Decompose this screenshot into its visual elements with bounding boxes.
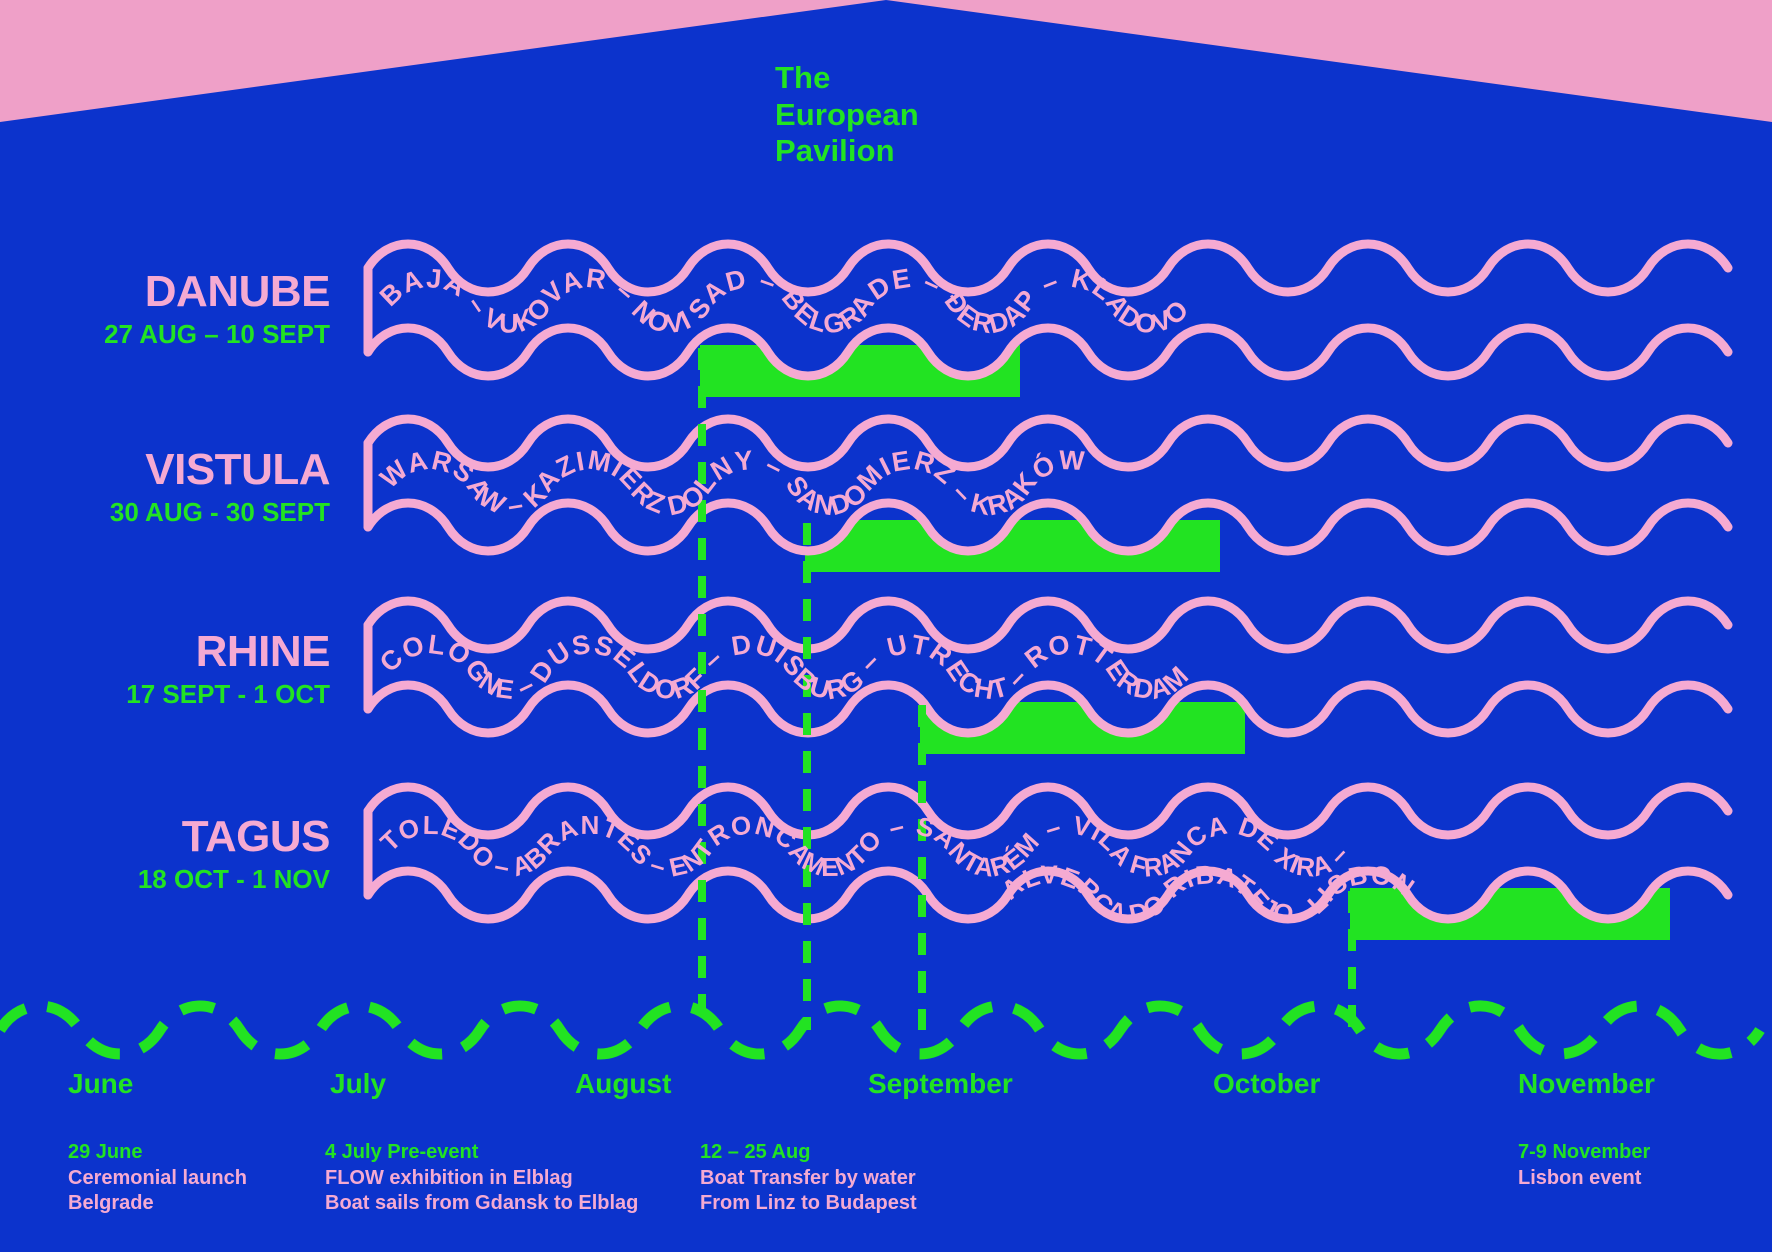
event-line2-august: From Linz to Budapest [700, 1191, 917, 1217]
river-label-danube: DANUBE 27 AUG – 10 SEPT [0, 270, 330, 347]
event-line1-november: Lisbon event [1518, 1166, 1650, 1192]
route-text-vistula: WARSAW – KAZIMIERZ DOLNY – SANDOMIERZ – … [374, 445, 1086, 522]
poster-canvas: BAJA – VUKOVAR – NOVI SAD – BELGRADE – Đ… [0, 0, 1772, 1252]
page-title: The European Pavilion [775, 60, 1075, 170]
river-dates-tagus: 18 OCT - 1 NOV [0, 866, 330, 892]
river-dates-danube: 27 AUG – 10 SEPT [0, 321, 330, 347]
river-dates-rhine: 17 SEPT - 1 OCT [0, 681, 330, 707]
event-line1-june: Ceremonial launch [68, 1166, 247, 1192]
event-note-august: 12 – 25 Aug Boat Transfer by water From … [700, 1140, 917, 1217]
river-label-rhine: RHINE 17 SEPT - 1 OCT [0, 630, 330, 707]
event-line2-july: Boat sails from Gdansk to Elblag [325, 1191, 638, 1217]
page-title-line2: European [775, 97, 1075, 134]
river-name-vistula: VISTULA [0, 448, 330, 492]
event-note-july: 4 July Pre-event FLOW exhibition in Elbl… [325, 1140, 638, 1217]
river-label-tagus: TAGUS 18 OCT - 1 NOV [0, 815, 330, 892]
event-line1-july: FLOW exhibition in Elblag [325, 1166, 638, 1192]
river-dates-vistula: 30 AUG - 30 SEPT [0, 499, 330, 525]
river-name-danube: DANUBE [0, 270, 330, 314]
route-text-tagus-line2: ALVERCA DO RIBATEJO - LISBON [996, 859, 1421, 930]
route-text-rhine: COLOGNE – DUSSELDORF – DUISBURG – UTRECH… [374, 629, 1195, 706]
event-date-june: 29 June [68, 1140, 247, 1166]
river-name-rhine: RHINE [0, 630, 330, 674]
route-text-danube: BAJA – VUKOVAR – NOVI SAD – BELGRADE – Đ… [374, 263, 1195, 340]
page-title-line3: Pavilion [775, 133, 1075, 170]
event-line1-august: Boat Transfer by water [700, 1166, 917, 1192]
event-note-june: 29 June Ceremonial launch Belgrade [68, 1140, 247, 1217]
route-labels: BAJA – VUKOVAR – NOVI SAD – BELGRADE – Đ… [0, 0, 1772, 1252]
month-label-october: October [1213, 1068, 1320, 1100]
month-label-november: November [1518, 1068, 1655, 1100]
month-label-august: August [575, 1068, 671, 1100]
river-label-vistula: VISTULA 30 AUG - 30 SEPT [0, 448, 330, 525]
event-line2-june: Belgrade [68, 1191, 247, 1217]
month-label-july: July [330, 1068, 386, 1100]
event-note-november: 7-9 November Lisbon event [1518, 1140, 1650, 1191]
event-date-november: 7-9 November [1518, 1140, 1650, 1166]
event-date-august: 12 – 25 Aug [700, 1140, 917, 1166]
month-label-september: September [868, 1068, 1013, 1100]
month-label-june: June [68, 1068, 133, 1100]
river-name-tagus: TAGUS [0, 815, 330, 859]
page-title-line1: The [775, 60, 1075, 97]
event-date-july: 4 July Pre-event [325, 1140, 638, 1166]
